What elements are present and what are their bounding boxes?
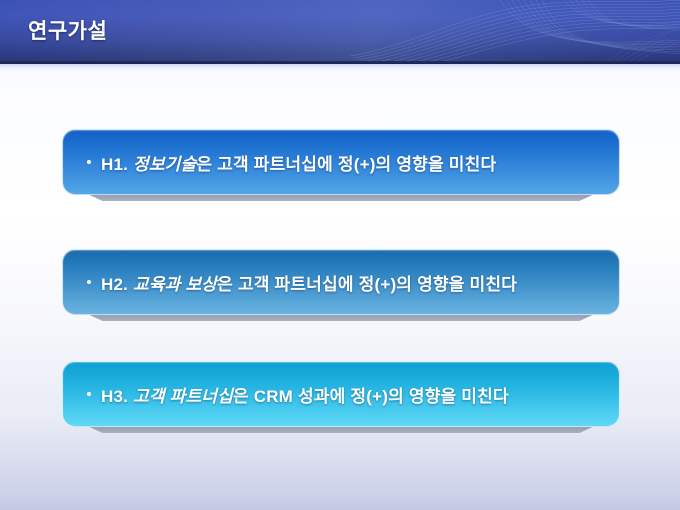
hypothesis-box[interactable]: H3. 고객 파트너십은 CRM 성과에 정(+)의 영향을 미친다: [62, 361, 620, 427]
hypothesis-item-h3[interactable]: H3. 고객 파트너십은 CRM 성과에 정(+)의 영향을 미친다: [62, 361, 620, 427]
hypothesis-item-h2[interactable]: H2. 교육과 보상은 고객 파트너십에 정(+)의 영향을 미친다: [62, 249, 620, 315]
hypothesis-rest: 은 CRM 성과에 정(+)의 영향을 미친다: [233, 387, 509, 406]
hypothesis-box[interactable]: H1. 정보기술은 고객 파트너십에 정(+)의 영향을 미친다: [62, 129, 620, 195]
hypothesis-text: H3. 고객 파트너십은 CRM 성과에 정(+)의 영향을 미친다: [101, 382, 509, 407]
hypothesis-text: H1. 정보기술은 고객 파트너십에 정(+)의 영향을 미친다: [101, 150, 496, 175]
hypothesis-list: H1. 정보기술은 고객 파트너십에 정(+)의 영향을 미친다 H2. 교육과…: [0, 0, 680, 510]
hypothesis-emphasis: 정보기술: [133, 155, 196, 174]
hypothesis-label: H3.: [101, 387, 128, 406]
hypothesis-rest: 은 고객 파트너십에 정(+)의 영향을 미친다: [196, 155, 496, 174]
hypothesis-emphasis: 교육과 보상: [133, 275, 217, 294]
hypothesis-label: H2.: [101, 275, 128, 294]
bullet-point-icon: [87, 160, 91, 164]
hypothesis-rest: 은 고객 파트너십에 정(+)의 영향을 미친다: [217, 275, 517, 294]
hypothesis-text: H2. 교육과 보상은 고객 파트너십에 정(+)의 영향을 미친다: [101, 270, 517, 295]
hypothesis-emphasis: 고객 파트너십: [133, 387, 233, 406]
hypothesis-label: H1.: [101, 155, 128, 174]
bullet-point-icon: [87, 392, 91, 396]
bullet-point-icon: [87, 280, 91, 284]
presentation-slide: 연구가설 H1. 정보기술은 고객 파트너십에 정(+)의 영향을 미친다 H2…: [0, 0, 680, 510]
hypothesis-box[interactable]: H2. 교육과 보상은 고객 파트너십에 정(+)의 영향을 미친다: [62, 249, 620, 315]
hypothesis-item-h1[interactable]: H1. 정보기술은 고객 파트너십에 정(+)의 영향을 미친다: [62, 129, 620, 195]
